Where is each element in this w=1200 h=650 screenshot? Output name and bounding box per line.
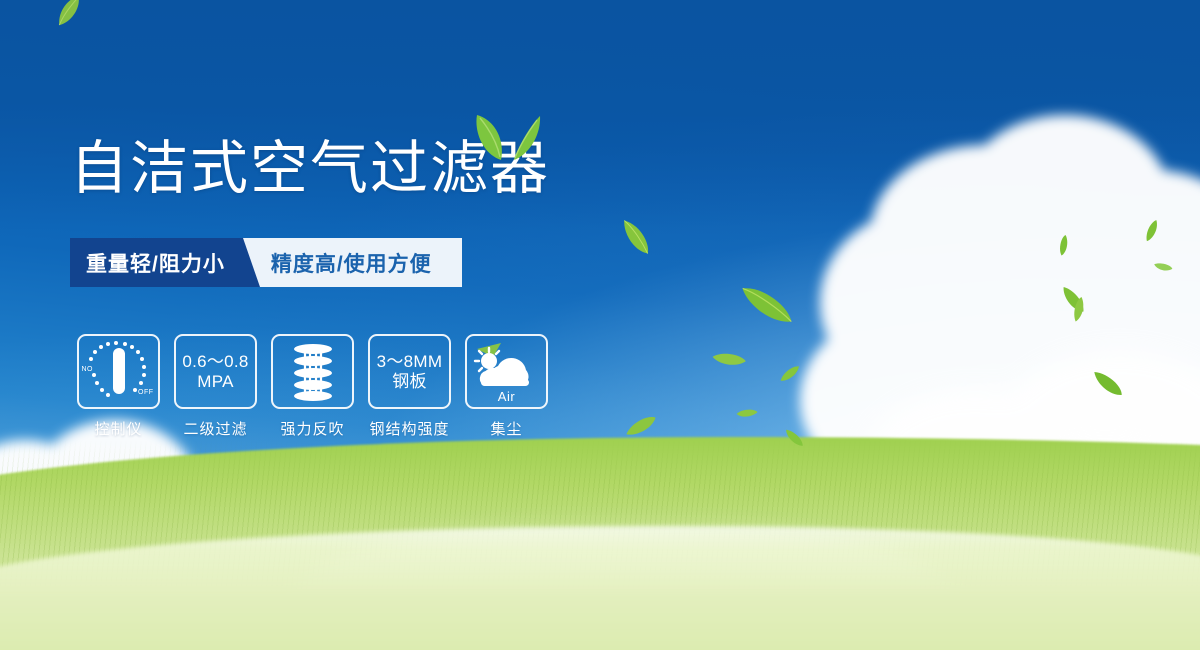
feature-icon-box xyxy=(271,334,354,409)
feature-icon-box: 0.6〜0.8 MPA xyxy=(174,334,257,409)
subtitle-left-segment: 重量轻/阻力小 xyxy=(70,238,243,287)
dial-label-no: NO xyxy=(82,366,94,373)
feature-box-line1: 3〜8MM xyxy=(377,352,443,371)
coil-icon xyxy=(288,341,338,403)
feature-label: 强力反吹 xyxy=(280,418,344,439)
feature-icon-box: NO OFF xyxy=(77,334,160,409)
feature-icon-box: Air xyxy=(465,334,548,409)
subtitle-bar: 重量轻/阻力小 精度高/使用方便 xyxy=(70,238,462,287)
feature-item-controller[interactable]: NO OFF 控制仪 xyxy=(70,334,167,439)
steel-text-icon: 3〜8MM 钢板 xyxy=(377,352,443,390)
feature-icon-box: 3〜8MM 钢板 xyxy=(368,334,451,409)
feature-box-line1: 0.6〜0.8 xyxy=(182,352,248,371)
feature-label: 控制仪 xyxy=(94,418,142,439)
grass-foreground xyxy=(0,526,1200,650)
cloud-air-label: Air xyxy=(471,389,543,404)
feature-box-line2: 钢板 xyxy=(377,372,443,391)
feature-list: NO OFF 控制仪 0.6〜0.8 MPA 二级过滤 xyxy=(70,334,555,439)
feature-label: 集尘 xyxy=(490,418,522,439)
subtitle-right-segment: 精度高/使用方便 xyxy=(243,238,462,287)
feature-item-steel-strength[interactable]: 3〜8MM 钢板 钢结构强度 xyxy=(361,334,458,439)
feature-item-two-stage-filter[interactable]: 0.6〜0.8 MPA 二级过滤 xyxy=(167,334,264,439)
dial-label-off: OFF xyxy=(138,389,154,396)
feature-label: 钢结构强度 xyxy=(369,418,449,439)
feature-label: 二级过滤 xyxy=(183,418,247,439)
feature-item-strong-blowback[interactable]: 强力反吹 xyxy=(264,334,361,439)
feature-box-line2: MPA xyxy=(182,372,248,391)
sprout-leaves-icon xyxy=(470,110,542,167)
pressure-text-icon: 0.6〜0.8 MPA xyxy=(182,352,248,390)
product-banner: 自洁式空气过滤器 重量轻/阻力小 精度高/使用方便 xyxy=(0,0,1200,650)
dial-icon: NO OFF xyxy=(82,339,156,405)
feature-item-dust-collection[interactable]: Air 集尘 xyxy=(458,334,555,439)
